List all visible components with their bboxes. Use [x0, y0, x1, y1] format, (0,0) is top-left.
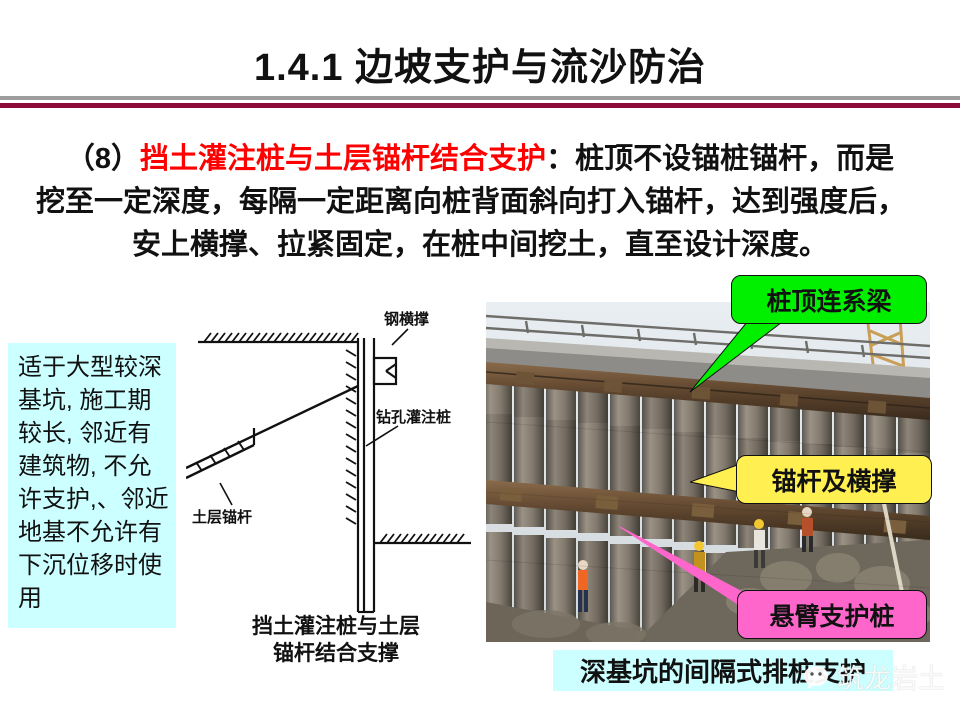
page-title: 1.4.1 边坡支护与流沙防治	[0, 36, 960, 91]
callout-tail-green	[660, 316, 820, 396]
callout-pile-cap-beam[interactable]: 桩顶连系梁	[731, 275, 927, 324]
body-line-1: （8）挡土灌注桩与土层锚杆结合支护：桩顶不设锚桩锚杆，而是	[0, 138, 960, 181]
diagram-caption: 挡土灌注桩与土层 锚杆结合支撑	[196, 613, 476, 667]
left-note-box: 适于大型较深基坑, 施工期较长, 邻近有建筑物, 不允许支护,、邻近地基不允许有…	[8, 343, 176, 628]
body-line-3: 安上横撑、拉紧固定，在桩中间挖土，直至设计深度。	[0, 224, 960, 267]
body-paragraph: （8）挡土灌注桩与土层锚杆结合支护：桩顶不设锚桩锚杆，而是 挖至一定深度，每隔一…	[0, 138, 960, 267]
diagram-label-bored-pile: 钻孔灌注桩	[376, 408, 451, 426]
callout-cantilever-pile[interactable]: 悬臂支护桩	[737, 590, 927, 639]
photo-caption: 深基坑的间隔式排桩支护	[553, 650, 893, 691]
body-line-1-suffix: ：桩顶不设锚桩锚杆，而是	[546, 143, 894, 175]
header-divider-red	[0, 103, 960, 108]
body-line-2: 挖至一定深度，每隔一定距离向桩背面斜向打入锚杆，达到强度后，	[0, 181, 960, 224]
diagram-label-soil-anchor: 土层锚杆	[192, 508, 252, 526]
body-line-1-highlight: 挡土灌注桩与土层锚杆结合支护	[140, 143, 546, 175]
diagram-label-steel-strut: 钢横撑	[384, 310, 429, 328]
diagram-caption-line2: 锚杆结合支撑	[196, 640, 476, 667]
diagram-caption-line1: 挡土灌注桩与土层	[196, 613, 476, 640]
body-line-1-prefix: （8）	[66, 143, 140, 175]
header-divider-gray	[0, 96, 960, 100]
callout-anchor-and-strut[interactable]: 锚杆及横撑	[736, 455, 932, 504]
